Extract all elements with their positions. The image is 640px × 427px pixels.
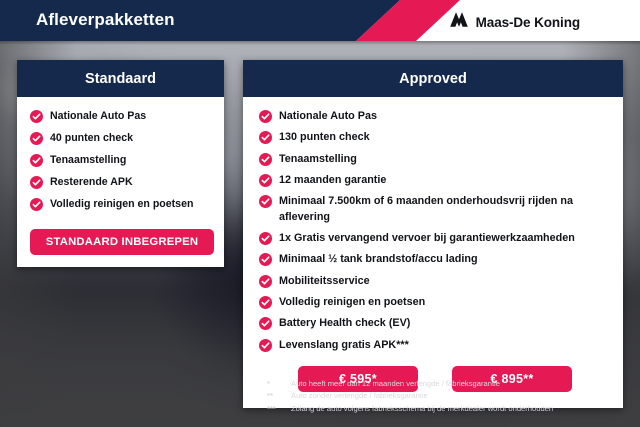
feature-label: Resterende APK	[50, 175, 133, 190]
check-circle-icon	[259, 110, 272, 123]
check-circle-icon	[30, 176, 43, 189]
check-circle-icon	[259, 339, 272, 352]
list-item: Minimaal ½ tank brandstof/accu lading	[259, 252, 611, 267]
feature-label: Tenaamstelling	[279, 152, 357, 167]
feature-label: 1x Gratis vervangend vervoer bij garanti…	[279, 231, 575, 246]
list-item: Battery Health check (EV)	[259, 316, 611, 331]
footnotes: * Auto heeft meer dan 12 maanden verleng…	[267, 379, 627, 416]
feature-label: Tenaamstelling	[50, 153, 126, 168]
standaard-feature-list: Nationale Auto Pas 40 punten check	[30, 109, 214, 212]
feature-label: Battery Health check (EV)	[279, 316, 410, 331]
list-item: Nationale Auto Pas	[30, 109, 214, 124]
card-standaard: Standaard Nationale Auto Pas	[17, 60, 224, 267]
footnote-marker: ***	[267, 404, 285, 413]
list-item: 130 punten check	[259, 130, 611, 145]
feature-label: 12 maanden garantie	[279, 173, 386, 188]
check-circle-icon	[259, 195, 272, 208]
footnote-row: *** Zolang de auto volgens fabrieksschem…	[267, 404, 627, 414]
feature-label: Minimaal 7.500km of 6 maanden onderhouds…	[279, 194, 611, 225]
check-circle-icon	[259, 153, 272, 166]
maas-de-koning-m-logo-icon	[449, 11, 469, 33]
brand-logo: Maas-De Koning	[449, 11, 580, 33]
brand-name: Maas-De Koning	[476, 15, 580, 30]
list-item: Tenaamstelling	[259, 152, 611, 167]
page-root: Afleverpakketten Maas-De Koning Standaar…	[0, 0, 640, 427]
footnote-marker: *	[267, 379, 285, 388]
list-item: Mobiliteitsservice	[259, 274, 611, 289]
check-circle-icon	[259, 131, 272, 144]
list-item: Levenslang gratis APK***	[259, 338, 611, 353]
check-circle-icon	[30, 132, 43, 145]
list-item: Nationale Auto Pas	[259, 109, 611, 124]
card-standaard-title: Standaard	[17, 60, 224, 97]
list-item: 1x Gratis vervangend vervoer bij garanti…	[259, 231, 611, 246]
list-item: Resterende APK	[30, 175, 214, 190]
approved-feature-list: Nationale Auto Pas 130 punten check	[259, 109, 611, 353]
page-header: Afleverpakketten Maas-De Koning	[0, 0, 640, 41]
check-circle-icon	[30, 198, 43, 211]
footnote-row: * Auto heeft meer dan 12 maanden verleng…	[267, 379, 627, 389]
standaard-inbegrepen-button[interactable]: STANDAARD INBEGREPEN	[30, 229, 214, 255]
check-circle-icon	[259, 296, 272, 309]
check-circle-icon	[30, 154, 43, 167]
feature-label: Levenslang gratis APK***	[279, 338, 409, 353]
feature-label: Nationale Auto Pas	[279, 109, 377, 124]
card-approved-title: Approved	[243, 60, 623, 97]
list-item: Minimaal 7.500km of 6 maanden onderhouds…	[259, 194, 611, 225]
list-item: Volledig reinigen en poetsen	[30, 197, 214, 212]
feature-label: Minimaal ½ tank brandstof/accu lading	[279, 252, 478, 267]
check-circle-icon	[259, 253, 272, 266]
feature-label: 130 punten check	[279, 130, 370, 145]
list-item: 12 maanden garantie	[259, 173, 611, 188]
card-standaard-body: Nationale Auto Pas 40 punten check	[17, 97, 224, 267]
check-circle-icon	[30, 110, 43, 123]
card-approved-body: Nationale Auto Pas 130 punten check	[243, 97, 623, 408]
check-circle-icon	[259, 317, 272, 330]
card-approved: Approved Nationale Auto Pas	[243, 60, 623, 408]
list-item: Tenaamstelling	[30, 153, 214, 168]
check-circle-icon	[259, 232, 272, 245]
list-item: Volledig reinigen en poetsen	[259, 295, 611, 310]
feature-label: Volledig reinigen en poetsen	[50, 197, 193, 212]
footnote-text: Zolang de auto volgens fabrieksschema bi…	[291, 404, 553, 414]
feature-label: Mobiliteitsservice	[279, 274, 370, 289]
footnote-row: ** Auto zonder verlengde / fabrieksgaran…	[267, 391, 627, 401]
check-circle-icon	[259, 275, 272, 288]
header-shadow	[0, 41, 640, 45]
page-title: Afleverpakketten	[36, 10, 175, 30]
check-circle-icon	[259, 174, 272, 187]
feature-label: Volledig reinigen en poetsen	[279, 295, 425, 310]
feature-label: Nationale Auto Pas	[50, 109, 146, 124]
list-item: 40 punten check	[30, 131, 214, 146]
footnote-text: Auto heeft meer dan 12 maanden verlengde…	[291, 379, 500, 389]
footnote-text: Auto zonder verlengde / fabrieksgarantie	[291, 391, 428, 401]
footnote-marker: **	[267, 391, 285, 400]
feature-label: 40 punten check	[50, 131, 133, 146]
